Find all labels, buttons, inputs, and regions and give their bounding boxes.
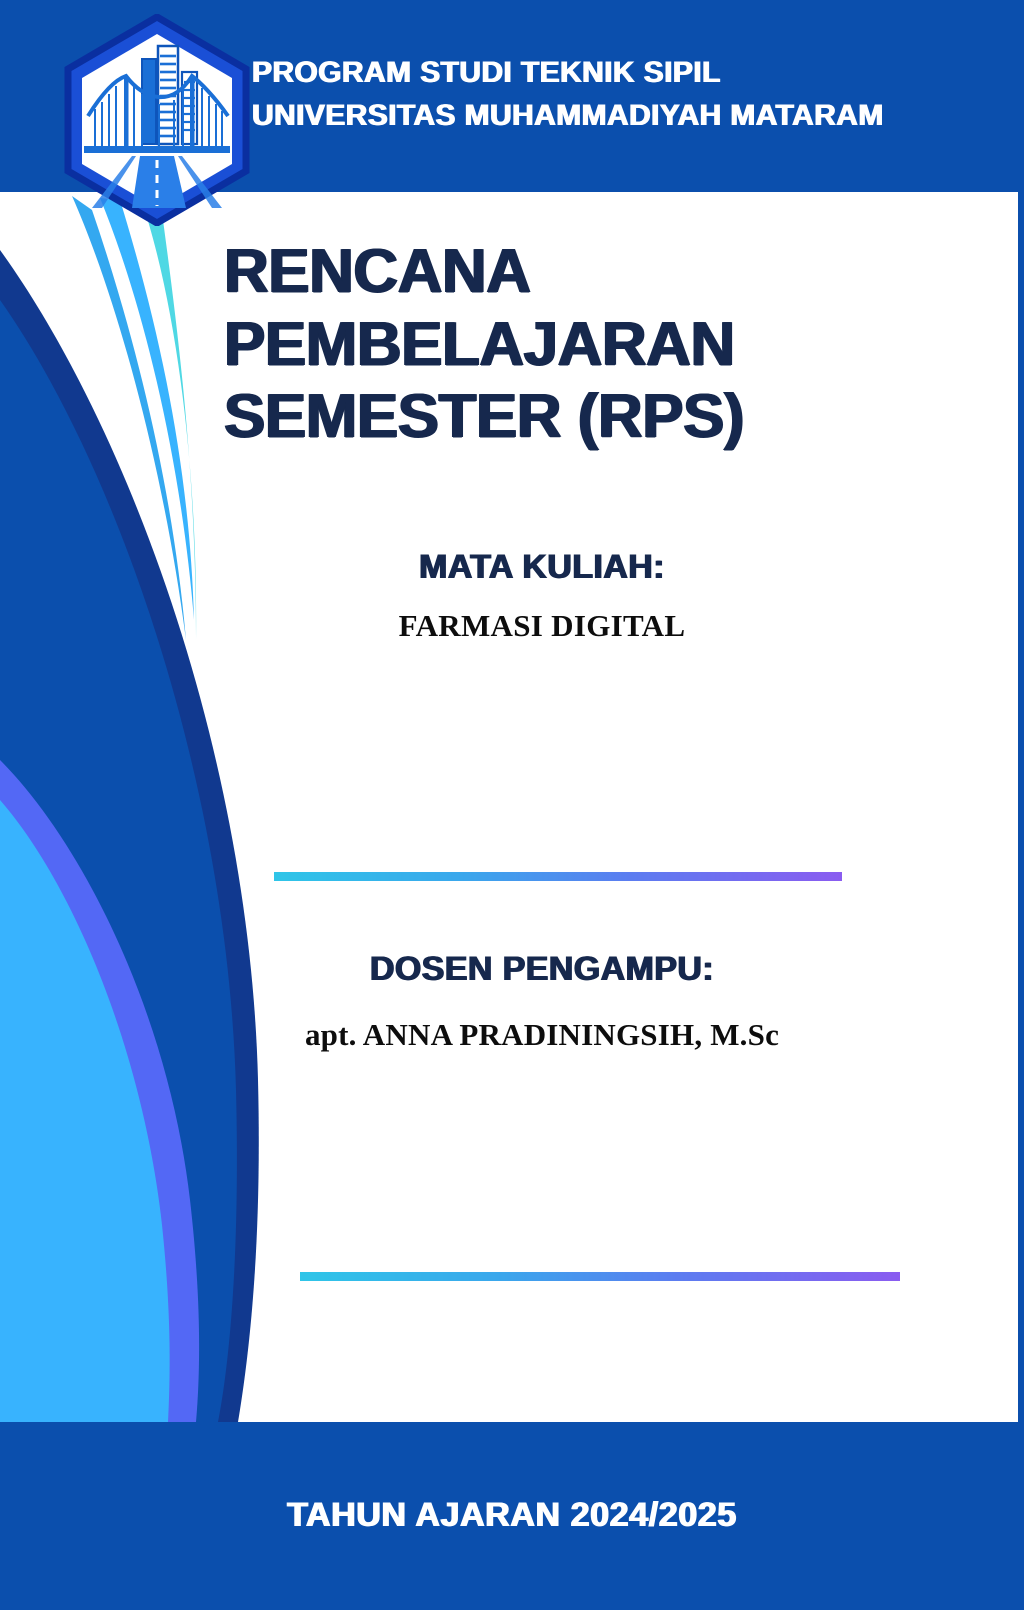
course-section: MATA KULIAH: FARMASI DIGITAL <box>0 548 1024 644</box>
title-line-1: RENCANA <box>224 236 904 309</box>
course-label: MATA KULIAH: <box>60 548 1024 587</box>
gradient-divider-bottom <box>300 1272 900 1281</box>
header: PROGRAM STUDI TEKNIK SIPIL UNIVERSITAS M… <box>0 0 1024 192</box>
academic-year-text: TAHUN AJARAN 2024/2025 <box>287 1496 737 1535</box>
cover-page: PROGRAM STUDI TEKNIK SIPIL UNIVERSITAS M… <box>0 0 1024 1610</box>
lecturer-name: apt. ANNA PRADININGSIH, M.Sc <box>60 1017 1024 1053</box>
title-line-2: PEMBELAJARAN <box>224 309 904 382</box>
course-name: FARMASI DIGITAL <box>60 608 1024 644</box>
header-program-line: PROGRAM STUDI TEKNIK SIPIL <box>252 52 884 95</box>
footer: TAHUN AJARAN 2024/2025 <box>0 1420 1024 1610</box>
gradient-divider-top <box>274 872 842 881</box>
right-edge-border <box>1018 192 1024 1422</box>
header-title-group: PROGRAM STUDI TEKNIK SIPIL UNIVERSITAS M… <box>252 52 884 137</box>
header-university-line: UNIVERSITAS MUHAMMADIYAH MATARAM <box>252 95 884 138</box>
hexagon-bridge-city-logo-icon <box>62 14 252 226</box>
lecturer-section: DOSEN PENGAMPU: apt. ANNA PRADININGSIH, … <box>0 950 1024 1053</box>
main-title: RENCANA PEMBELAJARAN SEMESTER (RPS) <box>224 236 904 454</box>
lecturer-label: DOSEN PENGAMPU: <box>60 950 1024 989</box>
title-line-3: SEMESTER (RPS) <box>224 381 904 454</box>
